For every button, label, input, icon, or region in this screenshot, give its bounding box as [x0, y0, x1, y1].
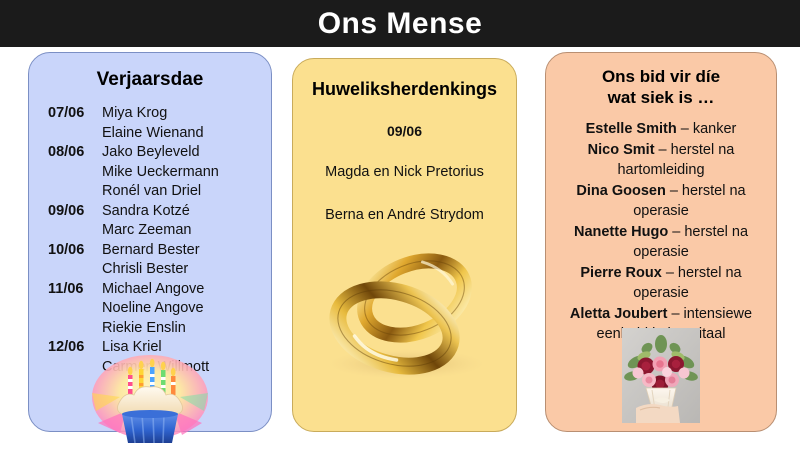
page-header: Ons Mense: [0, 0, 800, 47]
panel-anniversaries: Huweliksherdenkings 09/06 Magda en Nick …: [292, 58, 517, 432]
list-item: 07/06 Miya Krog: [48, 104, 265, 124]
list-item: Marc Zeeman: [48, 221, 265, 241]
birthday-date: 12/06: [48, 338, 96, 358]
list-item: 08/06 Jako Beyleveld: [48, 143, 265, 163]
prayer-name: Pierre Roux: [580, 265, 661, 281]
page-title: Ons Mense: [318, 9, 483, 39]
panel-birthdays: Verjaarsdae 07/06 Miya Krog Elaine Wiena…: [28, 52, 272, 432]
birthday-name: Elaine Wienand: [96, 124, 204, 144]
birthday-cupcake-icon: [90, 353, 210, 445]
birthday-list: 07/06 Miya Krog Elaine Wienand 08/06 Jak…: [29, 104, 271, 377]
list-item: Estelle Smith – kanker: [556, 119, 766, 139]
birthday-name: Marc Zeeman: [96, 221, 191, 241]
prayer-name: Estelle Smith: [586, 121, 677, 137]
birthday-name: Miya Krog: [96, 104, 167, 124]
list-item: Noeline Angove: [48, 299, 265, 319]
birthday-name: Bernard Bester: [96, 241, 200, 261]
list-item: Nico Smit – herstel na hartomleiding: [556, 140, 766, 180]
list-item: Elaine Wienand: [48, 124, 265, 144]
list-item: Riekie Enslin: [48, 319, 265, 339]
birthday-date: 07/06: [48, 104, 96, 124]
birthday-name: Mike Ueckermann: [96, 163, 219, 183]
birthday-date: 08/06: [48, 143, 96, 163]
birthday-date: 11/06: [48, 280, 96, 300]
panel-birthdays-heading: Verjaarsdae: [29, 53, 271, 91]
list-item: Berna en André Strydom: [293, 206, 516, 225]
birthday-name: Chrisli Bester: [96, 260, 188, 280]
prayer-name: Nico Smit: [588, 142, 655, 158]
list-item: Nanette Hugo – herstel na operasie: [556, 222, 766, 262]
list-item: 11/06 Michael Angove: [48, 280, 265, 300]
list-item: Pierre Roux – herstel na operasie: [556, 263, 766, 303]
list-item: Chrisli Bester: [48, 260, 265, 280]
panel-prayer-heading-line1: Ons bid vir díe: [546, 67, 776, 88]
birthday-name: Michael Angove: [96, 280, 204, 300]
prayer-name: Nanette Hugo: [574, 224, 668, 240]
panel-anniversaries-heading: Huweliksherdenkings: [293, 59, 516, 101]
birthday-date: 09/06: [48, 202, 96, 222]
prayer-name: Dina Goosen: [576, 183, 665, 199]
list-item: Dina Goosen – herstel na operasie: [556, 181, 766, 221]
panel-prayer-heading-line2: wat siek is …: [546, 88, 776, 109]
flower-bouquet-icon: [622, 328, 700, 423]
prayer-name: Aletta Joubert: [570, 306, 668, 322]
prayer-list: Estelle Smith – kanker Nico Smit – herst…: [546, 119, 776, 344]
list-item: 10/06 Bernard Bester: [48, 241, 265, 261]
birthday-name: Riekie Enslin: [96, 319, 186, 339]
list-item: Magda en Nick Pretorius: [293, 163, 516, 182]
prayer-condition: – kanker: [677, 121, 737, 137]
birthday-name: Sandra Kotzé: [96, 202, 190, 222]
list-item: Ronél van Driel: [48, 182, 265, 202]
birthday-name: Noeline Angove: [96, 299, 204, 319]
anniversary-date: 09/06: [293, 123, 516, 139]
panel-prayer-heading: Ons bid vir díe wat siek is …: [546, 53, 776, 108]
anniversary-list: 09/06 Magda en Nick Pretorius Berna en A…: [293, 123, 516, 225]
birthday-name: Jako Beyleveld: [96, 143, 200, 163]
list-item: Mike Ueckermann: [48, 163, 265, 183]
birthday-name: Ronél van Driel: [96, 182, 201, 202]
wedding-rings-icon: [302, 244, 507, 384]
birthday-date: 10/06: [48, 241, 96, 261]
panel-prayer: Ons bid vir díe wat siek is … Estelle Sm…: [545, 52, 777, 432]
list-item: 09/06 Sandra Kotzé: [48, 202, 265, 222]
